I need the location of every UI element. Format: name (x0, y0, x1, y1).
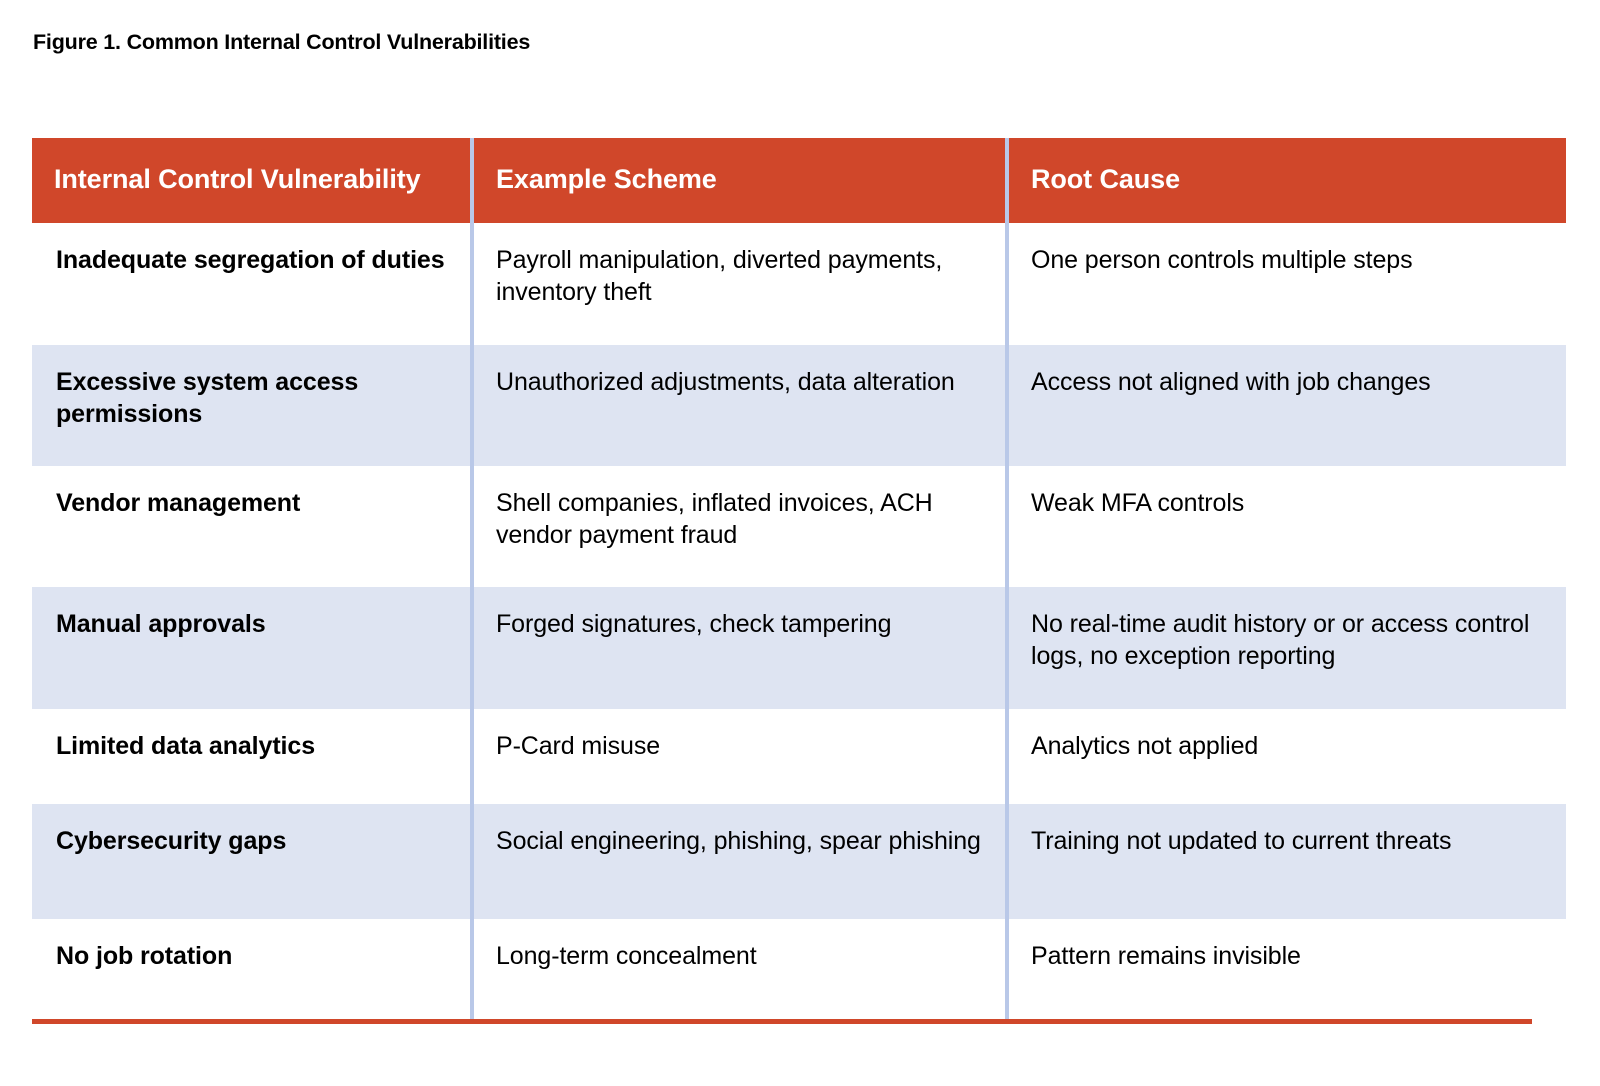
cell-root-cause: Access not aligned with job changes (1007, 345, 1566, 466)
table-row: Inadequate segregation of duties Payroll… (32, 223, 1566, 345)
cell-vulnerability: Inadequate segregation of duties (32, 223, 472, 345)
cell-root-cause: No real-time audit history or or access … (1007, 587, 1566, 709)
cell-vulnerability: Excessive system access permissions (32, 345, 472, 466)
cell-vulnerability: Cybersecurity gaps (32, 804, 472, 919)
table-bottom-rule (32, 1019, 1532, 1024)
table-row: Manual approvals Forged signatures, chec… (32, 587, 1566, 709)
cell-example-scheme: Shell companies, inflated invoices, ACH … (472, 466, 1007, 587)
cell-example-scheme: Payroll manipulation, diverted payments,… (472, 223, 1007, 345)
table-body: Inadequate segregation of duties Payroll… (32, 223, 1566, 1019)
cell-example-scheme: Unauthorized adjustments, data alteratio… (472, 345, 1007, 466)
cell-root-cause: Pattern remains invisible (1007, 919, 1566, 1019)
column-header-example-scheme: Example Scheme (472, 138, 1007, 223)
table-row: Vendor management Shell companies, infla… (32, 466, 1566, 587)
column-header-root-cause: Root Cause (1007, 138, 1566, 223)
cell-example-scheme: Forged signatures, check tampering (472, 587, 1007, 709)
table-row: Limited data analytics P-Card misuse Ana… (32, 709, 1566, 804)
cell-example-scheme: Social engineering, phishing, spear phis… (472, 804, 1007, 919)
cell-root-cause: Weak MFA controls (1007, 466, 1566, 587)
table-header: Internal Control Vulnerability Example S… (32, 138, 1566, 223)
vulnerabilities-table-container: Internal Control Vulnerability Example S… (32, 138, 1566, 1019)
cell-root-cause: Analytics not applied (1007, 709, 1566, 804)
table-header-row: Internal Control Vulnerability Example S… (32, 138, 1566, 223)
cell-vulnerability: Vendor management (32, 466, 472, 587)
vulnerabilities-table: Internal Control Vulnerability Example S… (32, 138, 1566, 1019)
cell-vulnerability: No job rotation (32, 919, 472, 1019)
cell-root-cause: One person controls multiple steps (1007, 223, 1566, 345)
cell-root-cause: Training not updated to current threats (1007, 804, 1566, 919)
cell-example-scheme: Long-term concealment (472, 919, 1007, 1019)
cell-example-scheme: P-Card misuse (472, 709, 1007, 804)
table-row: Cybersecurity gaps Social engineering, p… (32, 804, 1566, 919)
cell-vulnerability: Manual approvals (32, 587, 472, 709)
column-header-vulnerability: Internal Control Vulnerability (32, 138, 472, 223)
table-row: Excessive system access permissions Unau… (32, 345, 1566, 466)
page-title: Figure 1. Common Internal Control Vulner… (33, 30, 530, 55)
figure-page: Figure 1. Common Internal Control Vulner… (0, 0, 1600, 1086)
table-row: No job rotation Long-term concealment Pa… (32, 919, 1566, 1019)
cell-vulnerability: Limited data analytics (32, 709, 472, 804)
